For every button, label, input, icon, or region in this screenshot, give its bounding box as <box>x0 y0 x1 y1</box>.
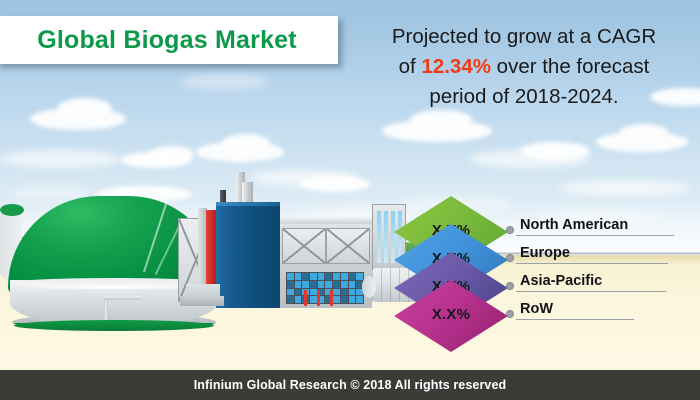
footer-copyright: Infinium Global Research © 2018 All righ… <box>194 378 507 392</box>
biogas-plant-buildings <box>176 180 396 310</box>
infographic-canvas: Global Biogas Market Projected to grow a… <box>0 0 700 400</box>
lattice-panel <box>326 228 370 264</box>
red-indicator-bars <box>304 290 338 306</box>
legend-dot-icon <box>506 282 514 290</box>
cagr-value: 12.34% <box>421 55 491 78</box>
legend-label-europe: Europe <box>520 245 570 261</box>
legend-rule <box>516 319 634 320</box>
headline-line-3: period of 2018-2024. <box>352 82 696 112</box>
cloud <box>150 146 194 162</box>
diamond-value-row: X.X% <box>394 306 508 323</box>
silo-cap <box>362 276 376 298</box>
legend-label-row: RoW <box>520 301 553 317</box>
legend-rule <box>516 235 674 236</box>
tank-green-base <box>14 320 214 331</box>
headline-line-2-suffix: over the forecast <box>491 55 649 78</box>
lattice-panel <box>282 228 326 264</box>
cloud <box>560 180 690 196</box>
cloud <box>222 134 270 152</box>
headline-line-1: Projected to grow at a CAGR <box>352 22 696 52</box>
legend-dot-icon <box>506 310 514 318</box>
headline-line-2: of 12.34% over the forecast <box>352 52 696 82</box>
legend-label-north-american: North American <box>520 217 628 233</box>
headline-line-2-prefix: of <box>399 55 422 78</box>
cloud <box>58 98 112 118</box>
legend-dot-icon <box>506 226 514 234</box>
legend-label-asia-pacific: Asia-Pacific <box>520 273 602 289</box>
headline-statement: Projected to grow at a CAGR of 12.34% ov… <box>352 22 696 112</box>
cloud <box>620 124 668 140</box>
legend-rule <box>516 263 668 264</box>
legend-dot-icon <box>506 254 514 262</box>
title-box: Global Biogas Market <box>0 16 338 64</box>
page-title: Global Biogas Market <box>37 26 297 55</box>
footer-bar: Infinium Global Research © 2018 All righ… <box>0 370 700 400</box>
equipment-skid-base <box>180 296 224 306</box>
cloud <box>0 150 120 168</box>
blue-building <box>216 206 280 308</box>
cloud <box>180 74 270 90</box>
legend-rule <box>516 291 666 292</box>
tank-pipe-horizontal <box>104 296 142 300</box>
regional-share-diagram: X.X% X.X% X.X% X.X% North American Europ… <box>386 196 700 346</box>
cloud <box>520 142 590 160</box>
cloud <box>410 110 472 130</box>
